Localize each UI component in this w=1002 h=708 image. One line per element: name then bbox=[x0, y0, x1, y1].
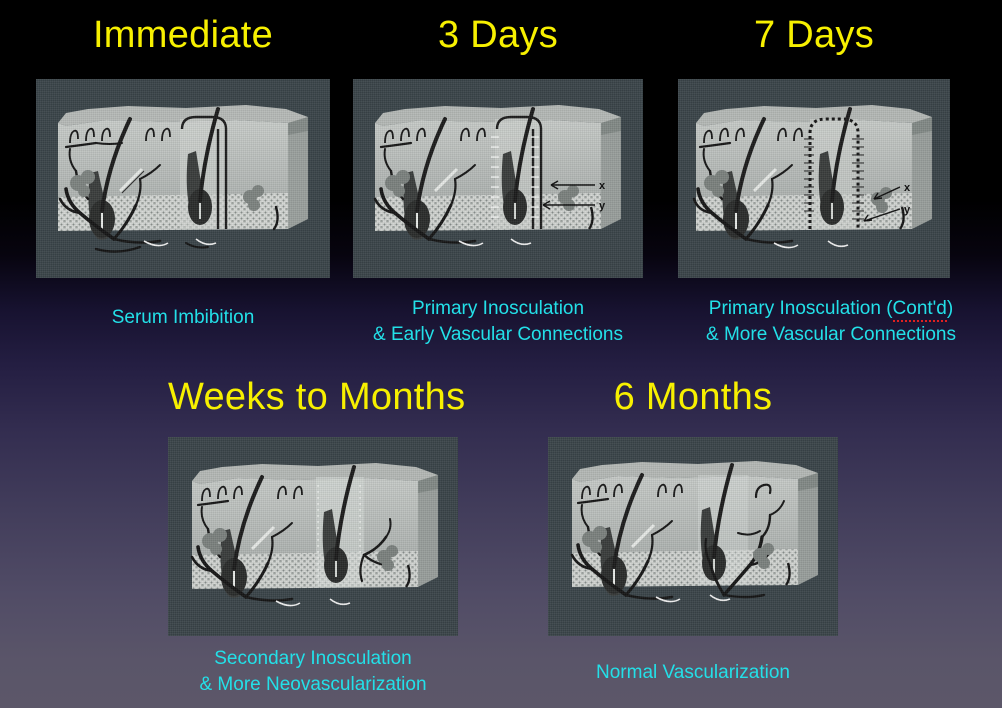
skin-graft-illustration-1 bbox=[36, 79, 330, 278]
image-label-y: y bbox=[904, 204, 911, 216]
image-label-y: y bbox=[599, 200, 606, 212]
caption-line: Secondary Inosculation bbox=[163, 646, 463, 672]
caption-line: & More Neovascularization bbox=[163, 672, 463, 698]
caption-line: Normal Vascularization bbox=[548, 660, 838, 686]
stage-caption-weeks-to-months: Secondary Inosculation & More Neovascula… bbox=[163, 646, 463, 698]
stage-title-six-months: 6 Months bbox=[548, 378, 838, 416]
image-label-x: x bbox=[904, 182, 911, 194]
caption-line: & Early Vascular Connections bbox=[348, 322, 648, 348]
skin-graft-illustration-3: x y bbox=[678, 79, 950, 278]
caption-line: Primary Inosculation bbox=[348, 296, 648, 322]
stage-image-three-days: x y bbox=[353, 79, 643, 278]
skin-graft-illustration-2: x y bbox=[353, 79, 643, 278]
caption-line: Serum Imbibition bbox=[36, 305, 330, 331]
stage-title-seven-days: 7 Days bbox=[678, 16, 950, 54]
stage-caption-six-months: Normal Vascularization bbox=[548, 660, 838, 686]
skin-graft-illustration-5 bbox=[548, 437, 838, 636]
stage-image-immediate bbox=[36, 79, 330, 278]
stage-image-six-months bbox=[548, 437, 838, 636]
stage-image-seven-days: x y bbox=[678, 79, 950, 278]
stage-title-immediate: Immediate bbox=[36, 16, 330, 54]
stage-caption-immediate: Serum Imbibition bbox=[36, 305, 330, 331]
stage-image-weeks-to-months bbox=[168, 437, 458, 636]
stage-title-three-days: 3 Days bbox=[353, 16, 643, 54]
stage-title-weeks-to-months: Weeks to Months bbox=[168, 378, 458, 416]
misspelled-word: Cont'd bbox=[893, 298, 947, 322]
caption-line: & More Vascular Connections bbox=[660, 322, 1002, 348]
stage-caption-three-days: Primary Inosculation & Early Vascular Co… bbox=[348, 296, 648, 348]
image-label-x: x bbox=[599, 180, 606, 192]
caption-line: Primary Inosculation (Cont'd) bbox=[660, 296, 1002, 322]
skin-graft-illustration-4 bbox=[168, 437, 458, 636]
stage-caption-seven-days: Primary Inosculation (Cont'd) & More Vas… bbox=[660, 296, 1002, 348]
slide-canvas: Immediate bbox=[0, 0, 1002, 708]
